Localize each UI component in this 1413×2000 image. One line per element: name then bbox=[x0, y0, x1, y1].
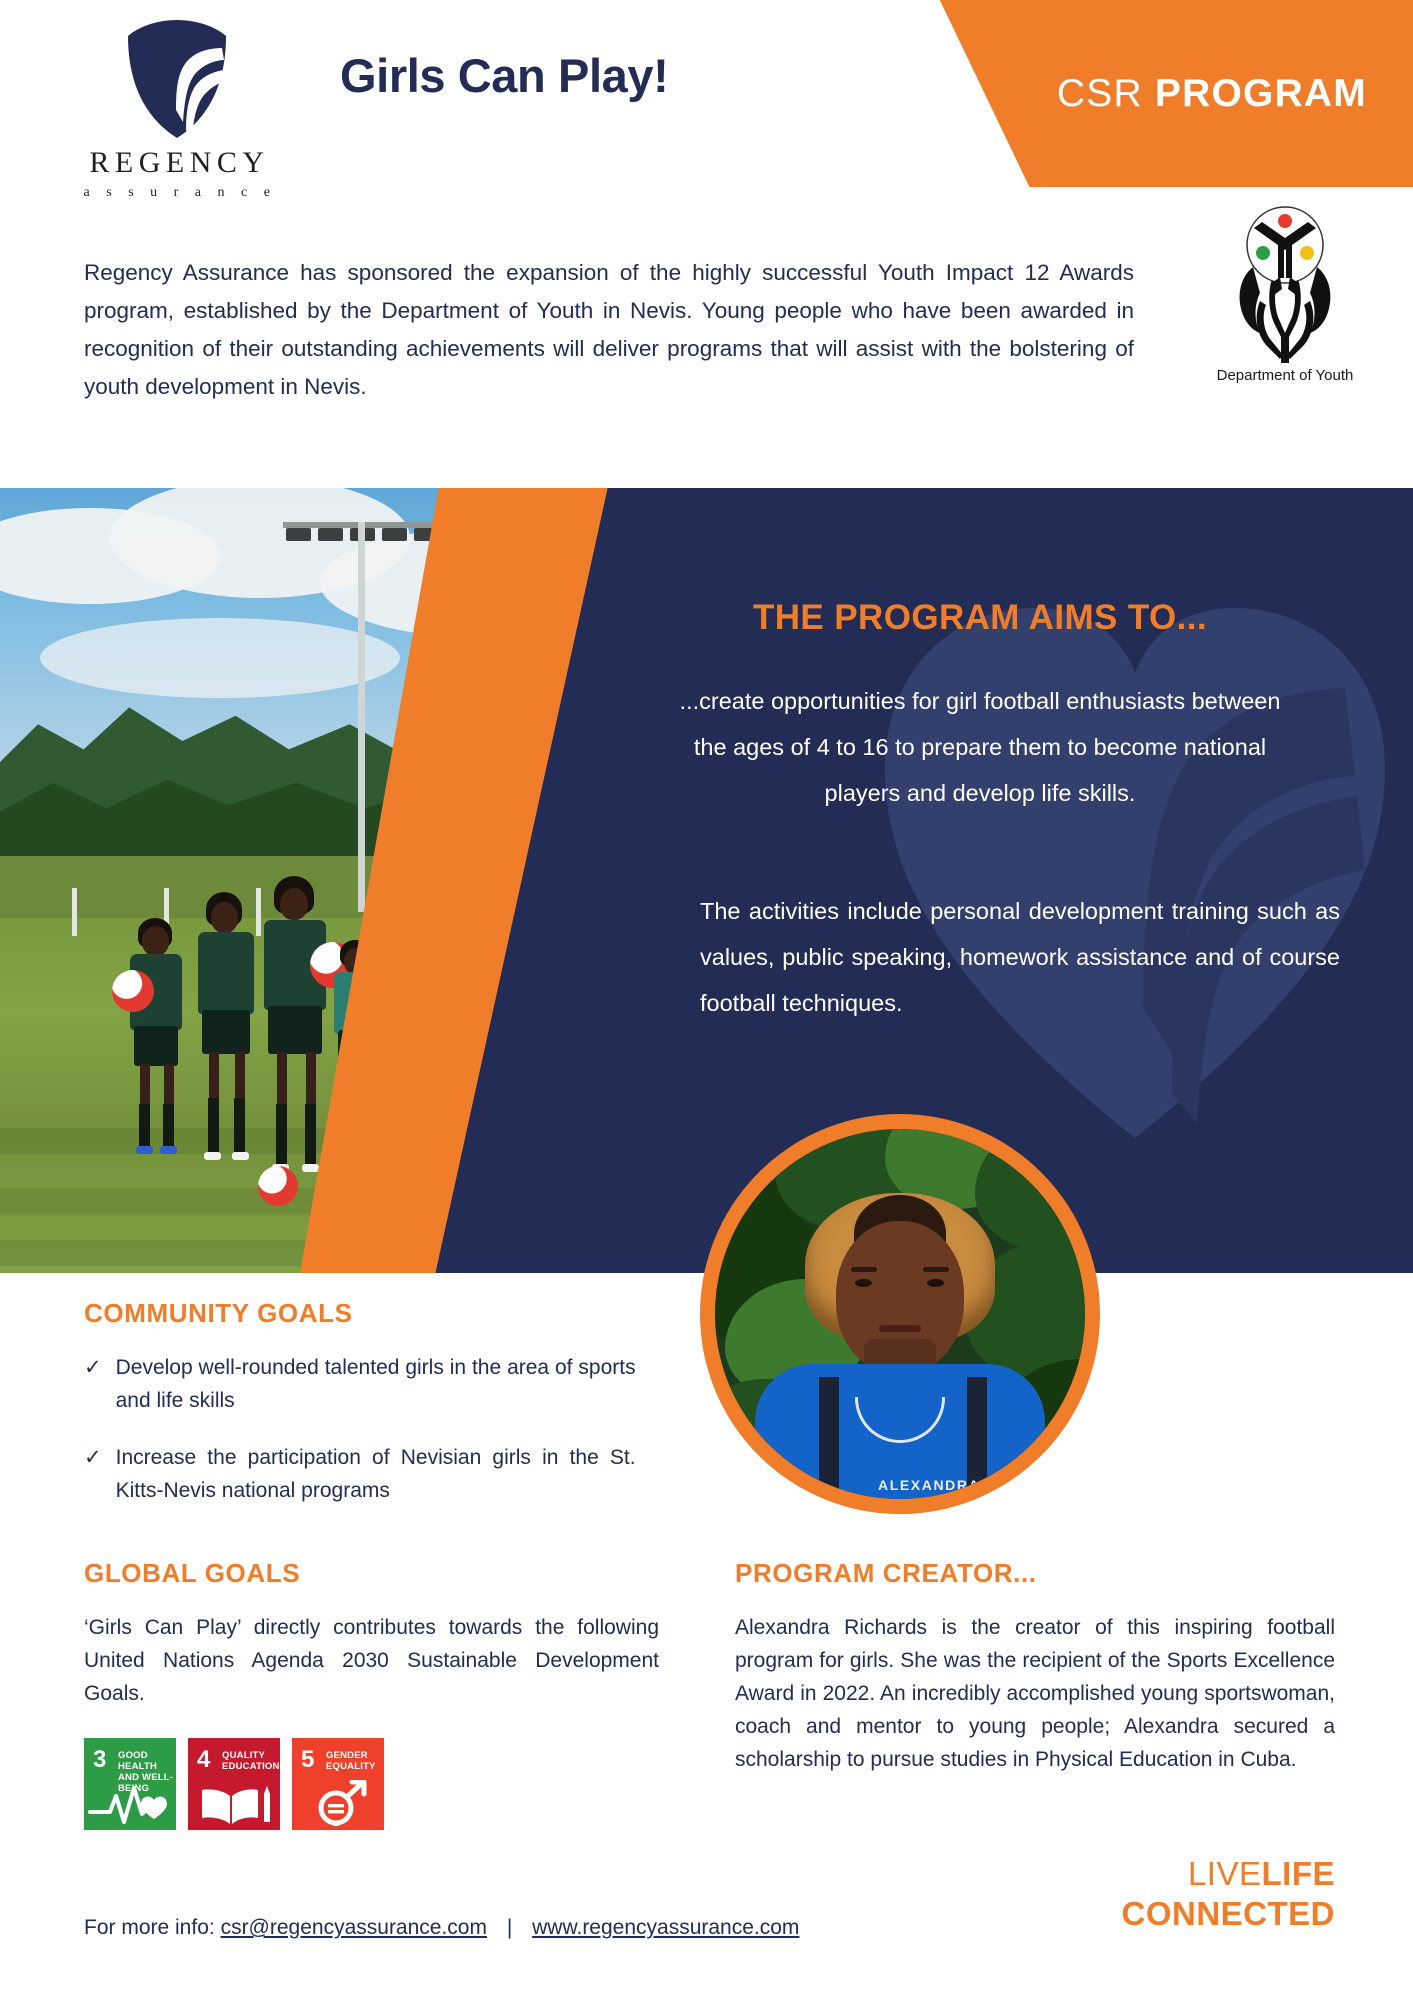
list-item: ✓ Develop well-rounded talented girls in… bbox=[84, 1351, 654, 1417]
fence-post bbox=[256, 888, 261, 936]
list-item-label: Increase the participation of Nevisian g… bbox=[116, 1441, 636, 1507]
sdg-label: GENDER EQUALITY bbox=[326, 1750, 384, 1772]
global-goals-section: GLOBAL GOALS ‘Girls Can Play’ directly c… bbox=[84, 1558, 659, 1830]
tagline-line-2: CONNECTED bbox=[1121, 1894, 1335, 1934]
sdg-number: 5 bbox=[301, 1748, 314, 1772]
sdg-badge-quality-education: 4 QUALITY EDUCATION bbox=[188, 1738, 280, 1830]
regency-logo: REGENCY a s s u r a n c e bbox=[72, 18, 282, 201]
eye bbox=[855, 1279, 872, 1287]
department-of-youth-icon bbox=[1210, 205, 1360, 365]
community-goals-section: COMMUNITY GOALS ✓ Develop well-rounded t… bbox=[84, 1298, 654, 1531]
program-creator-paragraph: Alexandra Richards is the creator of thi… bbox=[735, 1611, 1335, 1776]
sdg-number: 3 bbox=[93, 1748, 106, 1772]
floodlight-lamp bbox=[318, 528, 343, 541]
page-header: CSR PROGRAM REGENCY a s s u r a n c e Gi… bbox=[0, 0, 1413, 190]
list-item-label: Develop well-rounded talented girls in t… bbox=[116, 1351, 636, 1417]
hero-band: THE PROGRAM AIMS TO... ...create opportu… bbox=[0, 488, 1413, 1273]
website-link[interactable]: www.regencyassurance.com bbox=[532, 1916, 799, 1939]
eyebrow bbox=[851, 1267, 877, 1272]
department-of-youth-logo: Department of Youth bbox=[1190, 205, 1380, 384]
tagline-line-1: LIVELIFE bbox=[1121, 1854, 1335, 1894]
tagline-live: LIVE bbox=[1188, 1855, 1262, 1892]
check-icon: ✓ bbox=[84, 1441, 102, 1507]
floodlight-pole bbox=[358, 522, 365, 912]
sdg-badge-good-health: 3 GOOD HEALTH AND WELL-BEING bbox=[84, 1738, 176, 1830]
footer-prefix: For more info: bbox=[84, 1916, 215, 1939]
page-title: Girls Can Play! bbox=[340, 48, 860, 103]
aims-heading: THE PROGRAM AIMS TO... bbox=[630, 598, 1330, 638]
cloud bbox=[40, 618, 400, 698]
sdg-badge-gender-equality: 5 GENDER EQUALITY bbox=[292, 1738, 384, 1830]
fence-post bbox=[72, 888, 77, 936]
heartbeat-icon bbox=[84, 1780, 176, 1826]
community-goals-list: ✓ Develop well-rounded talented girls in… bbox=[84, 1351, 654, 1507]
program-creator-heading: PROGRAM CREATOR... bbox=[735, 1558, 1335, 1589]
backpack-strap bbox=[819, 1377, 839, 1499]
sdg-label: QUALITY EDUCATION bbox=[222, 1750, 280, 1772]
global-goals-paragraph: ‘Girls Can Play’ directly contributes to… bbox=[84, 1611, 659, 1710]
shirt-name-text: ALEXANDRA bbox=[878, 1477, 980, 1493]
assurance-wordmark: a s s u r a n c e bbox=[72, 185, 282, 201]
aims-paragraph-1: ...create opportunities for girl footbal… bbox=[660, 678, 1300, 816]
sdg-number: 4 bbox=[197, 1748, 210, 1772]
aims-paragraph-2: The activities include personal developm… bbox=[700, 888, 1340, 1026]
intro-paragraph: Regency Assurance has sponsored the expa… bbox=[84, 254, 1134, 406]
gender-equality-icon bbox=[292, 1780, 384, 1826]
program-text: PROGRAM bbox=[1155, 72, 1367, 115]
football bbox=[258, 1166, 298, 1206]
floodlight-lamp bbox=[382, 528, 407, 541]
program-creator-portrait: ALEXANDRA bbox=[700, 1114, 1100, 1514]
brand-tagline: LIVELIFE CONNECTED bbox=[1121, 1854, 1335, 1934]
mouth bbox=[879, 1325, 921, 1332]
csr-text: CSR bbox=[1057, 72, 1143, 115]
tagline-life: LIFE bbox=[1262, 1855, 1336, 1892]
regency-wordmark: REGENCY bbox=[72, 146, 282, 180]
eyebrow bbox=[923, 1267, 949, 1272]
portrait-photo: ALEXANDRA bbox=[715, 1129, 1085, 1499]
footer-separator: | bbox=[507, 1916, 512, 1939]
sdg-badges: 3 GOOD HEALTH AND WELL-BEING 4 QUALITY E… bbox=[84, 1738, 659, 1830]
floodlight-lamp bbox=[286, 528, 311, 541]
eye bbox=[927, 1279, 944, 1287]
global-goals-heading: GLOBAL GOALS bbox=[84, 1558, 659, 1589]
contact-email-link[interactable]: csr@regencyassurance.com bbox=[221, 1916, 487, 1939]
list-item: ✓ Increase the participation of Nevisian… bbox=[84, 1441, 654, 1507]
footer-contact: For more info: csr@regencyassurance.com … bbox=[84, 1916, 799, 1940]
check-icon: ✓ bbox=[84, 1351, 102, 1417]
department-of-youth-caption: Department of Youth bbox=[1190, 367, 1380, 384]
community-goals-heading: COMMUNITY GOALS bbox=[84, 1298, 654, 1329]
open-book-icon bbox=[188, 1780, 280, 1826]
regency-shield-icon bbox=[123, 18, 231, 140]
csr-program-label: CSR PROGRAM bbox=[1057, 72, 1367, 116]
program-creator-section: PROGRAM CREATOR... Alexandra Richards is… bbox=[735, 1558, 1335, 1776]
